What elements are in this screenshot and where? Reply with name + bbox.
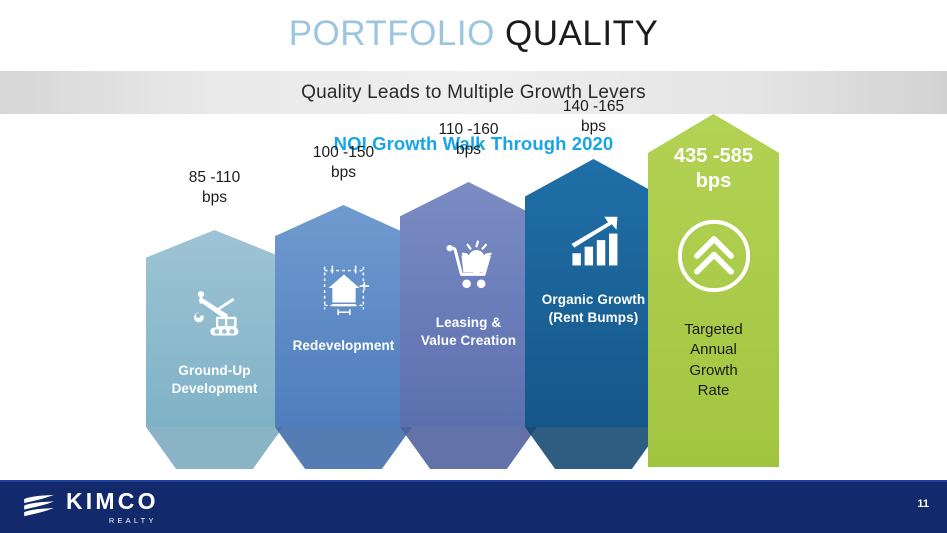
title-secondary: QUALITY	[505, 14, 658, 53]
chart-column-ground-up-development: 85 -110 bps	[146, 230, 283, 427]
title-primary: PORTFOLIO	[289, 14, 495, 53]
subtitle-band: Quality Leads to Multiple Growth Levers	[0, 71, 947, 114]
double-chevron-up-circle-icon	[672, 214, 756, 298]
chart-column-leasing-value-creation: 110 -160 bps	[400, 182, 537, 427]
column-body: Redevelopment	[275, 205, 412, 427]
column-foot-shadow	[275, 427, 412, 469]
column-label: Ground-Up Development	[146, 362, 283, 397]
bar-chart-arrow-icon	[557, 205, 631, 279]
column-body: Organic Growth (Rent Bumps)	[525, 159, 662, 427]
growth-walk-chart: 85 -110 bps	[0, 110, 947, 480]
shopping-cart-lightbulb-icon	[432, 228, 506, 302]
chart-column-redevelopment: 100 -150 bps	[275, 205, 412, 427]
column-label: Leasing & Value Creation	[400, 314, 537, 349]
column-foot-shadow	[525, 427, 662, 469]
house-blueprint-icon	[307, 251, 381, 325]
slide-root: PORTFOLIO QUALITY Quality Leads to Multi…	[0, 0, 947, 533]
kimco-logo: KIMCO REALTY	[22, 490, 159, 525]
footer-accent-line	[0, 480, 947, 482]
page-title: PORTFOLIO QUALITY	[0, 14, 947, 54]
kimco-wave-mark-icon	[22, 494, 56, 522]
footer-bar: KIMCO REALTY 11	[0, 480, 947, 533]
page-number: 11	[917, 498, 929, 510]
column-body: 435 -585 bps Targeted Annual Growth Rate	[648, 114, 779, 467]
column-foot-shadow	[146, 427, 283, 469]
target-label: Targeted Annual Growth Rate	[684, 320, 742, 401]
target-bps-label: 435 -585 bps	[674, 144, 753, 194]
chart-column-targeted-annual-growth-rate: 435 -585 bps Targeted Annual Growth Rate	[648, 114, 779, 467]
logo-wordmark: KIMCO	[66, 490, 159, 513]
chart-column-organic-growth: 140 -165 bps Organic Growth (Rent Bumps)	[525, 159, 662, 427]
column-body: Leasing & Value Creation	[400, 182, 537, 427]
column-label: Organic Growth (Rent Bumps)	[525, 291, 662, 326]
logo-subtext: REALTY	[109, 516, 157, 525]
column-body: Ground-Up Development	[146, 230, 283, 427]
column-foot-shadow	[400, 427, 537, 469]
column-label: Redevelopment	[275, 337, 412, 355]
crane-icon	[178, 276, 252, 350]
